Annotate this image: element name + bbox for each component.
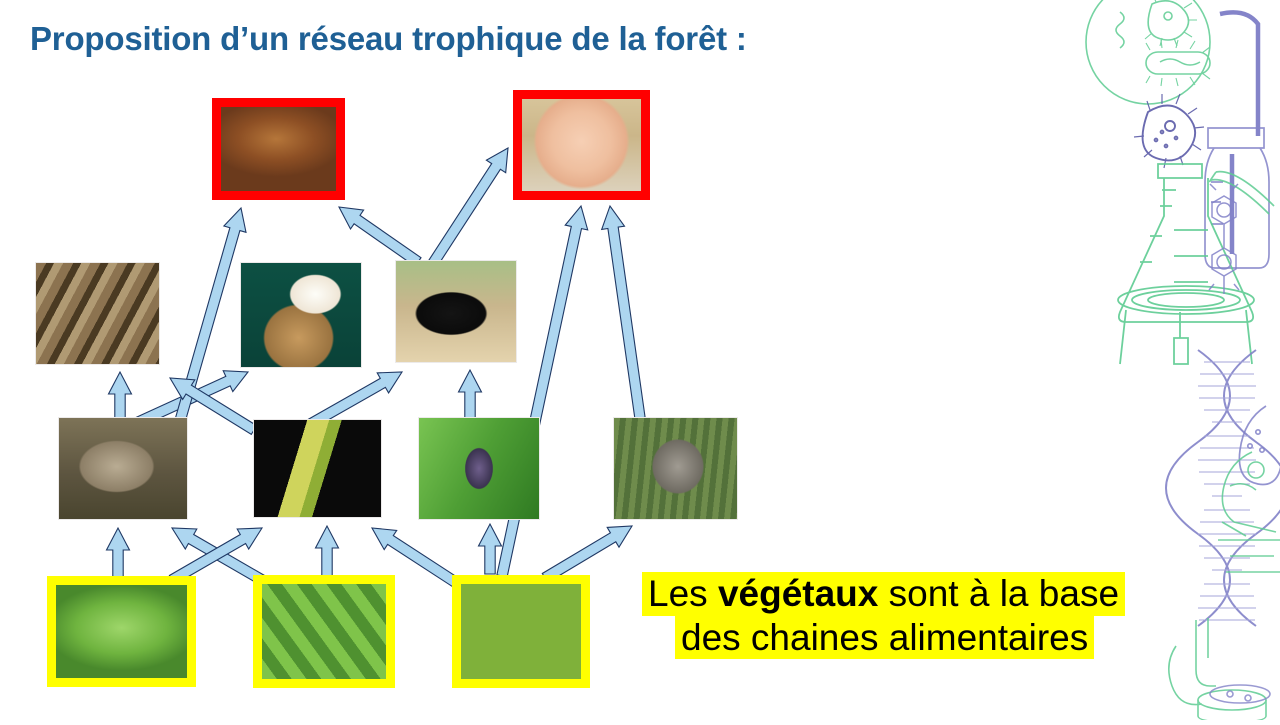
organism-photo-fruittree[interactable]	[452, 575, 590, 688]
maple-image	[262, 584, 386, 679]
snake-image	[36, 263, 159, 364]
organism-photo-mouse[interactable]	[58, 417, 188, 520]
organism-photo-hazel[interactable]	[47, 576, 196, 687]
organism-photo-rabbit[interactable]	[613, 417, 738, 520]
fly-image	[419, 418, 539, 519]
arrow-blackbird-to-human	[426, 148, 508, 271]
owl-image	[241, 263, 361, 367]
human-image	[522, 99, 641, 191]
rabbit-image	[614, 418, 737, 519]
organism-photo-fly[interactable]	[418, 417, 540, 520]
caption-suffix: sont à la base	[878, 573, 1119, 614]
arrow-fly-to-blackbird	[459, 370, 482, 418]
caption-prefix: Les	[648, 573, 718, 614]
caption-line-2: des chaines alimentaires	[675, 616, 1094, 660]
organism-photo-owl[interactable]	[240, 262, 362, 368]
caterpillar-image	[254, 420, 381, 517]
arrow-fruittree-to-fly	[479, 524, 502, 574]
organism-photo-fox[interactable]	[212, 98, 345, 200]
slide-canvas: Proposition d’un réseau trophique de la …	[0, 0, 1280, 720]
organism-photo-caterpillar[interactable]	[253, 419, 382, 518]
organism-photo-blackbird[interactable]	[395, 260, 517, 363]
arrow-rabbit-to-human	[602, 206, 645, 419]
organism-photo-snake[interactable]	[35, 262, 160, 365]
arrow-mouse-to-snake	[109, 372, 132, 418]
mouse-image	[59, 418, 187, 519]
arrow-hazel-to-mouse	[107, 528, 130, 578]
arrow-maple-to-caterpillar	[316, 526, 339, 576]
caption-line-1: Les végétaux sont à la base	[642, 572, 1125, 616]
caption-box: Les végétaux sont à la base des chaines …	[637, 572, 1243, 659]
arrow-blackbird-to-fox	[339, 207, 421, 266]
caption-bold-word: végétaux	[718, 573, 878, 614]
organism-photo-maple[interactable]	[253, 575, 395, 688]
fox-image	[221, 107, 336, 191]
blackbird-image	[396, 261, 516, 362]
fruittree-image	[461, 584, 581, 679]
hazel-image	[56, 585, 187, 678]
organism-photo-human[interactable]	[513, 90, 650, 200]
